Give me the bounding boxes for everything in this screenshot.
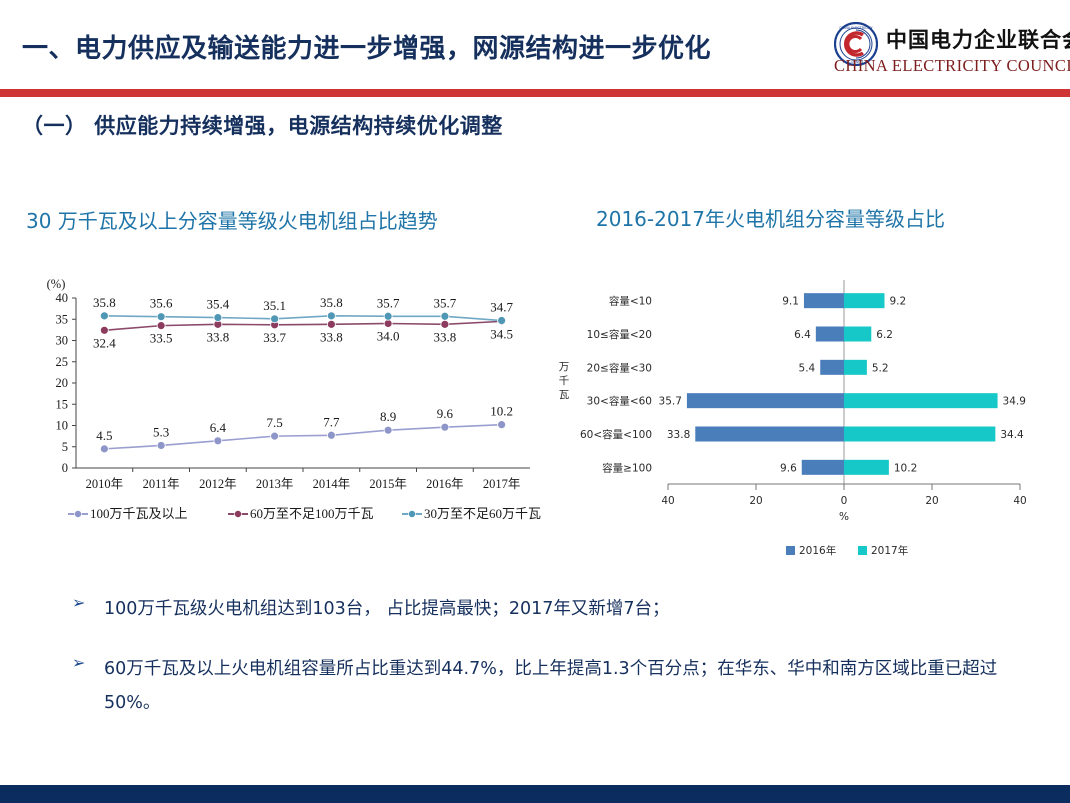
svg-text:35.8: 35.8 <box>320 295 343 310</box>
page-title: 一、电力供应及输送能力进一步增强，网源结构进一步优化 <box>22 28 711 65</box>
svg-text:7.7: 7.7 <box>323 414 340 429</box>
svg-text:33.8: 33.8 <box>320 329 343 344</box>
svg-text:34.4: 34.4 <box>1000 429 1024 441</box>
line-chart-svg: (%)05101520253035402010年2011年2012年2013年2… <box>32 272 544 530</box>
header-divider <box>0 89 1070 97</box>
org-logo: CHINA ELECTRICITY COUNCIL 中国电力企业联合会 CHIN… <box>834 20 1062 82</box>
section-subtitle: （一） 供应能力持续增强，电源结构持续优化调整 <box>22 110 503 140</box>
list-item: ➢ 100万千瓦级火电机组达到103台， 占比提高最快；2017年又新增7台； <box>72 592 1012 626</box>
svg-text:35.7: 35.7 <box>659 396 682 408</box>
bullet-arrow-icon: ➢ <box>72 592 104 617</box>
svg-text:2016年: 2016年 <box>426 477 464 491</box>
svg-text:100万千瓦及以上: 100万千瓦及以上 <box>90 506 188 521</box>
svg-text:20: 20 <box>925 495 938 507</box>
svg-text:7.5: 7.5 <box>267 415 283 430</box>
svg-text:32.4: 32.4 <box>93 335 116 350</box>
svg-text:35.7: 35.7 <box>434 295 457 310</box>
bullet-arrow-icon: ➢ <box>72 652 104 677</box>
svg-text:2013年: 2013年 <box>256 477 294 491</box>
logo-text-en: CHINA ELECTRICITY COUNCIL <box>834 56 1070 76</box>
svg-text:10: 10 <box>56 419 69 433</box>
chart-heading-left: 30 万千瓦及以上分容量等级火电机组占比趋势 <box>26 205 438 234</box>
slide-footer-bar <box>0 785 1070 803</box>
svg-text:5.2: 5.2 <box>872 362 889 374</box>
svg-text:20: 20 <box>56 376 69 390</box>
svg-text:34.9: 34.9 <box>1003 396 1026 408</box>
svg-text:9.1: 9.1 <box>782 296 799 308</box>
svg-text:瓦: 瓦 <box>559 389 570 401</box>
svg-text:60<容量<100: 60<容量<100 <box>580 428 652 441</box>
svg-text:30: 30 <box>56 334 69 348</box>
svg-text:33.8: 33.8 <box>667 429 690 441</box>
svg-text:0: 0 <box>62 461 68 475</box>
svg-text:2017年: 2017年 <box>871 544 908 557</box>
svg-text:35.4: 35.4 <box>207 297 230 312</box>
svg-text:35: 35 <box>56 312 69 326</box>
svg-text:34.5: 34.5 <box>490 326 513 341</box>
svg-text:容量<10: 容量<10 <box>609 295 652 308</box>
svg-text:(%): (%) <box>47 277 66 291</box>
svg-text:千: 千 <box>559 375 570 387</box>
svg-text:30万至不足60万千瓦: 30万至不足60万千瓦 <box>424 506 541 521</box>
svg-text:40: 40 <box>56 291 69 305</box>
logo-text-cn: 中国电力企业联合会 <box>886 24 1070 54</box>
svg-text:9.2: 9.2 <box>889 296 906 308</box>
svg-text:5: 5 <box>62 440 68 454</box>
line-chart-capacity-trend: (%)05101520253035402010年2011年2012年2013年2… <box>32 272 544 530</box>
svg-text:5.3: 5.3 <box>153 424 169 439</box>
chart-heading-right: 2016-2017年火电机组分容量等级占比 <box>596 203 945 232</box>
svg-text:%: % <box>839 511 849 523</box>
svg-text:10.2: 10.2 <box>490 404 513 419</box>
svg-text:CHINA ELECTRICITY: CHINA ELECTRICITY <box>839 26 873 30</box>
svg-text:9.6: 9.6 <box>780 462 797 474</box>
svg-text:10≤容量<20: 10≤容量<20 <box>587 328 652 341</box>
svg-text:6.4: 6.4 <box>210 420 227 435</box>
svg-text:25: 25 <box>56 355 69 369</box>
svg-text:33.8: 33.8 <box>434 329 457 344</box>
svg-text:15: 15 <box>56 397 69 411</box>
svg-text:6.4: 6.4 <box>794 329 811 341</box>
bullet-text: 100万千瓦级火电机组达到103台， 占比提高最快；2017年又新增7台； <box>104 592 1012 626</box>
svg-text:35.6: 35.6 <box>150 296 173 311</box>
svg-text:0: 0 <box>841 495 848 507</box>
list-item: ➢ 60万千瓦及以上火电机组容量所占比重达到44.7%，比上年提高1.3个百分点… <box>72 652 1012 720</box>
svg-text:2011年: 2011年 <box>143 477 180 491</box>
svg-text:2015年: 2015年 <box>369 477 407 491</box>
svg-text:6.2: 6.2 <box>876 329 893 341</box>
svg-text:2010年: 2010年 <box>86 477 124 491</box>
svg-text:33.7: 33.7 <box>263 330 286 345</box>
svg-text:万: 万 <box>559 361 570 373</box>
svg-text:34.0: 34.0 <box>377 329 400 344</box>
bullet-text: 60万千瓦及以上火电机组容量所占比重达到44.7%，比上年提高1.3个百分点；在… <box>104 652 1012 720</box>
svg-text:40: 40 <box>661 495 674 507</box>
svg-text:2014年: 2014年 <box>313 477 351 491</box>
svg-text:20: 20 <box>749 495 762 507</box>
svg-text:2017年: 2017年 <box>483 477 521 491</box>
svg-text:60万至不足100万千瓦: 60万至不足100万千瓦 <box>250 506 374 521</box>
svg-text:30<容量<60: 30<容量<60 <box>587 395 652 408</box>
svg-text:5.4: 5.4 <box>799 362 816 374</box>
svg-text:9.6: 9.6 <box>437 406 454 421</box>
svg-text:35.7: 35.7 <box>377 295 400 310</box>
svg-text:2016年: 2016年 <box>799 544 836 557</box>
svg-text:34.7: 34.7 <box>490 300 513 315</box>
svg-text:20≤容量<30: 20≤容量<30 <box>587 361 652 374</box>
bullet-list: ➢ 100万千瓦级火电机组达到103台， 占比提高最快；2017年又新增7台； … <box>72 592 1012 746</box>
svg-text:2012年: 2012年 <box>199 477 237 491</box>
svg-text:4.5: 4.5 <box>96 428 112 443</box>
svg-text:10.2: 10.2 <box>894 462 917 474</box>
svg-text:35.8: 35.8 <box>93 295 116 310</box>
slide-header: 一、电力供应及输送能力进一步增强，网源结构进一步优化 CHINA ELECTRI… <box>0 0 1070 90</box>
svg-text:35.1: 35.1 <box>263 298 286 313</box>
bar-chart-capacity-share: 万千瓦402002040%容量<109.19.210≤容量<206.46.220… <box>548 270 1060 570</box>
svg-text:33.8: 33.8 <box>207 329 230 344</box>
svg-text:8.9: 8.9 <box>380 409 396 424</box>
svg-text:容量≥100: 容量≥100 <box>602 461 652 474</box>
svg-text:33.5: 33.5 <box>150 331 173 346</box>
svg-text:40: 40 <box>1013 495 1026 507</box>
bar-chart-svg: 万千瓦402002040%容量<109.19.210≤容量<206.46.220… <box>548 270 1060 570</box>
